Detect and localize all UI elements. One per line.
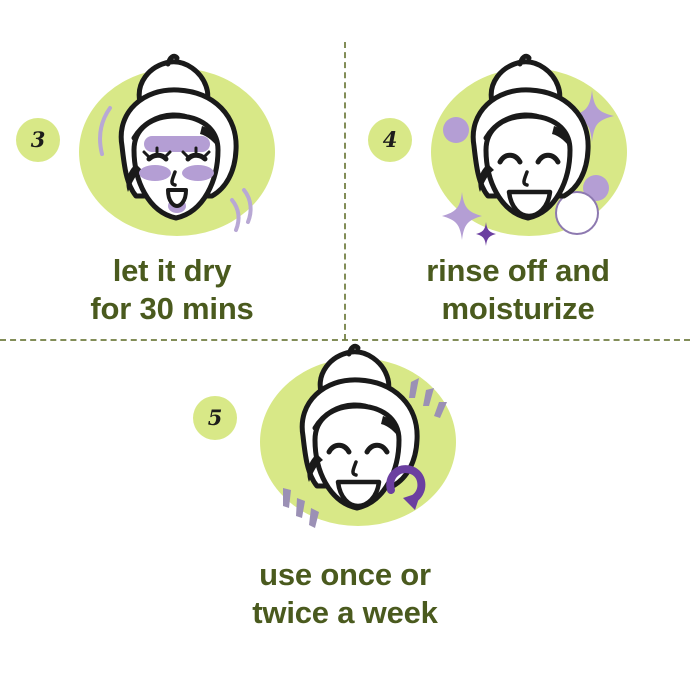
caption-line-1: rinse off and <box>346 252 690 290</box>
caption-line-1: use once or <box>173 556 517 594</box>
step-number-label: 4 <box>383 129 398 150</box>
step-number-label: 3 <box>31 129 46 150</box>
cheek-mask-patch-right <box>182 165 214 181</box>
forehead-mask-band <box>144 136 210 152</box>
step-caption-3: let it dry for 30 mins <box>0 252 344 328</box>
infographic-canvas: 3 <box>0 0 690 700</box>
illustration-face-rinse-moisturize <box>414 50 644 250</box>
caption-line-2: for 30 mins <box>0 290 344 328</box>
step-number-badge-5: 5 <box>193 396 237 440</box>
step-number-label: 5 <box>208 407 223 428</box>
caption-line-2: twice a week <box>173 594 517 632</box>
step-number-badge-3: 3 <box>16 118 60 162</box>
step-panel-3: 3 <box>0 40 344 340</box>
illustration-face-repeat-weekly <box>243 340 473 540</box>
mouth-open <box>168 190 186 206</box>
cheek-mask-patch-left <box>139 165 171 181</box>
step-number-badge-4: 4 <box>368 118 412 162</box>
illustration-face-mask-drying <box>62 50 292 250</box>
bubble-purple-top-left <box>443 117 469 143</box>
step-panel-5: 5 <box>173 368 517 668</box>
step-caption-5: use once or twice a week <box>173 556 517 632</box>
step-caption-4: rinse off and moisturize <box>346 252 690 328</box>
caption-line-1: let it dry <box>0 252 344 290</box>
caption-line-2: moisturize <box>346 290 690 328</box>
step-panel-4: 4 <box>346 40 690 340</box>
